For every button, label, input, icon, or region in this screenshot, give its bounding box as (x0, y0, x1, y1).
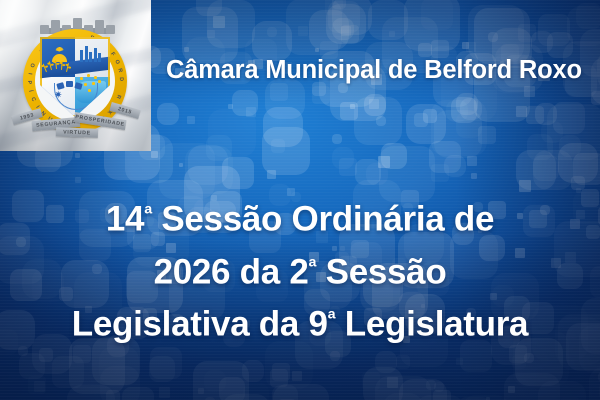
headline-line: 14ª Sessão Ordinária de (0, 190, 600, 243)
banner-root: MUNICÍPIO DE BELFORD ROXO ✷ (0, 0, 600, 400)
ring-letter: F (109, 51, 116, 57)
ring-letter: R (116, 68, 123, 74)
headline-line: Legislativa da 9ª Legislatura (0, 295, 600, 348)
ring-letter: R (115, 94, 122, 100)
headline-line: 2026 da 2ª Sessão (0, 243, 600, 296)
ribbon-motto-virtude: VIRTUDE (56, 127, 98, 137)
ring-letter: O (113, 59, 120, 66)
session-headline: 14ª Sessão Ordinária de2026 da 2ª Sessão… (0, 190, 600, 348)
page-title: Câmara Municipal de Belford Roxo (166, 56, 582, 85)
flag-panel: MUNICÍPIO DE BELFORD ROXO ✷ (0, 0, 151, 151)
ring-letter: D (118, 77, 124, 82)
coat-of-arms-icon: MUNICÍPIO DE BELFORD ROXO ✷ (14, 17, 138, 141)
